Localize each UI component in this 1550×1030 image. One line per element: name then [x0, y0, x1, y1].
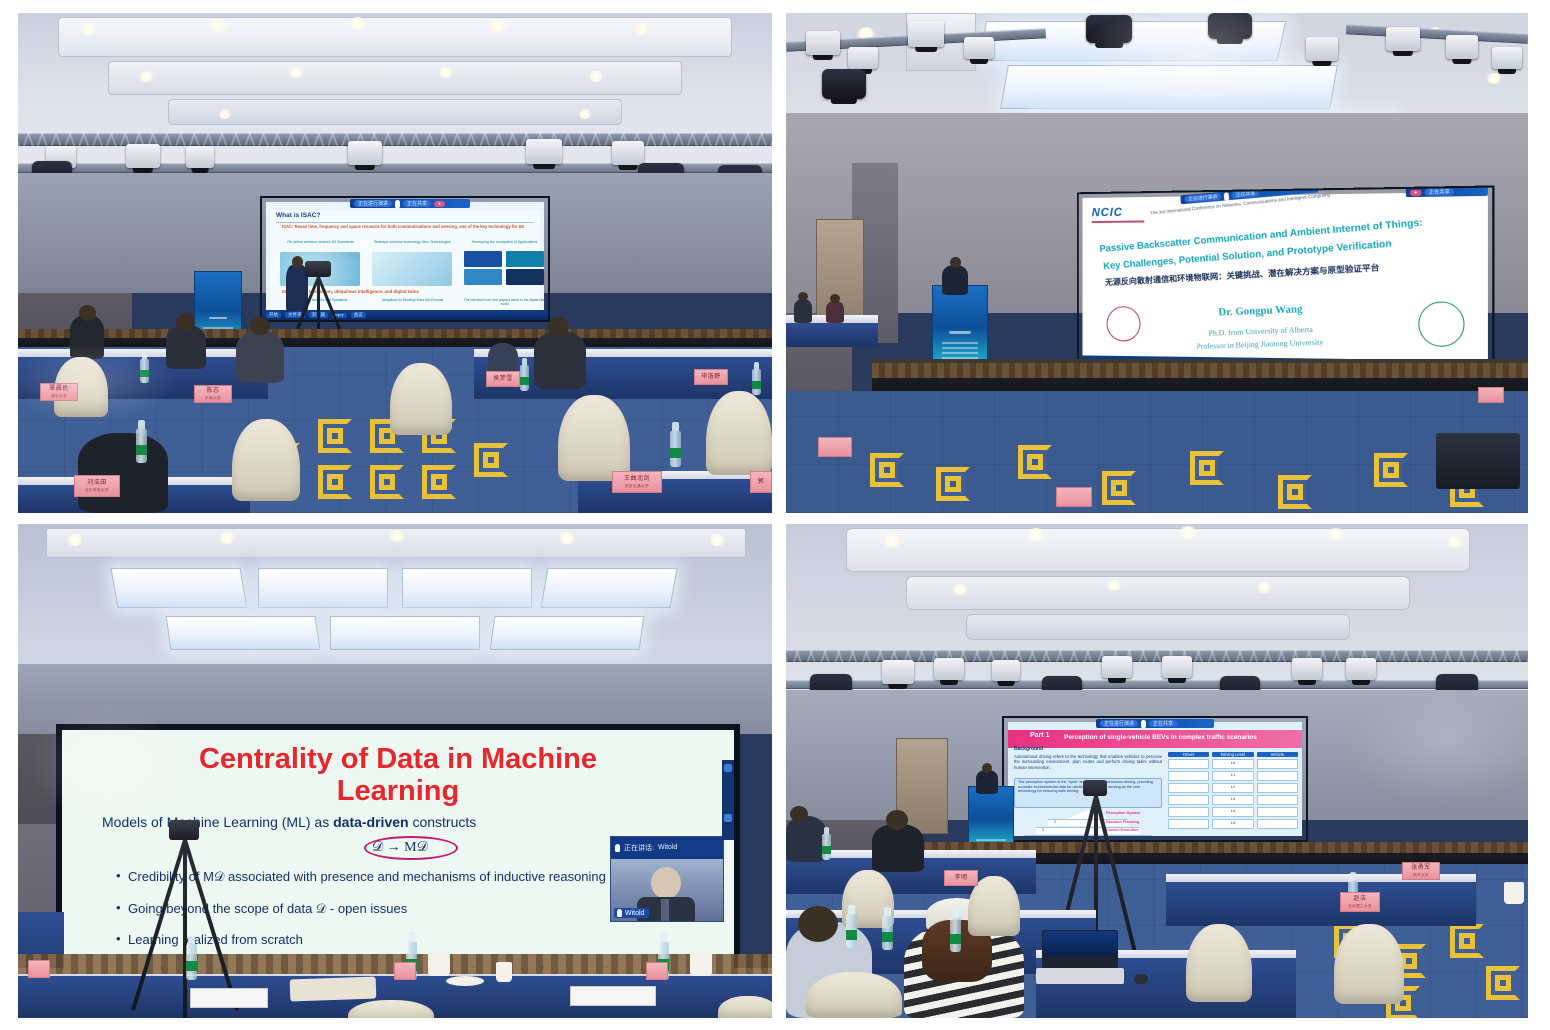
water-bottle: [670, 431, 681, 467]
stage-light: [1162, 656, 1192, 678]
placard-name: 张勇军: [1411, 865, 1431, 872]
audience-head: [548, 317, 569, 336]
presentation-status-strip: 正在进行演讲 正在共享: [1096, 719, 1214, 728]
laptop-screen: [1043, 931, 1117, 956]
slide-section-label: Background: [1014, 746, 1043, 752]
stage: [872, 361, 1528, 393]
camera-icon: [1083, 780, 1107, 796]
stage-light: [1292, 658, 1322, 680]
name-placard: 侯梦雪: [486, 371, 520, 387]
annotation-ellipse: [364, 836, 458, 860]
speaker-name: Dr. Gongpu Wang: [1163, 301, 1361, 321]
name-placard: [394, 962, 416, 980]
chair: [1186, 924, 1252, 1002]
water-bottle: [186, 944, 197, 980]
stage-light: [186, 146, 214, 168]
placard-name: 李明: [954, 875, 967, 882]
chair: [1334, 924, 1404, 1004]
logo-alberta: [1418, 301, 1464, 347]
ceiling-light-panel: [330, 616, 480, 650]
speaking-name: Witold: [658, 844, 677, 851]
placard-affiliation: 东南大学: [205, 396, 221, 400]
podium: [932, 285, 988, 363]
microphone-icon: [1224, 192, 1229, 200]
led-screen: Part 1 Perception of single-vehicle BEVs…: [1002, 716, 1308, 842]
chair: [806, 972, 902, 1018]
audience-head: [886, 810, 908, 830]
audience-head: [79, 305, 96, 321]
name-placard: 陈志 东南大学: [194, 385, 232, 403]
name-placard: 张勇军 同济大学: [1402, 862, 1440, 880]
side-table: [786, 319, 878, 347]
mic-control-icon[interactable]: [724, 764, 732, 772]
placard-name: 陈志: [206, 388, 219, 395]
table-cell-level: L2: [1212, 783, 1253, 793]
camera-tripod: [304, 261, 332, 333]
tea-cup: [1504, 882, 1524, 904]
water-bottle: [752, 369, 761, 395]
slide-title: What is ISAC?: [276, 212, 320, 219]
placard-affiliation: 北京邮电大学: [85, 488, 109, 492]
participant-name-badge: Witold: [614, 908, 649, 918]
status-pill-sharing: 正在共享: [1149, 720, 1177, 727]
floor-placard: [1478, 387, 1504, 403]
stage-light: [992, 660, 1020, 681]
name-placard: [28, 960, 50, 978]
stage-light: [1306, 37, 1338, 61]
audience-member: [236, 331, 284, 383]
water-bottle: [882, 916, 893, 950]
stage-light: [1386, 27, 1420, 51]
name-placard: 赵洁 北京理工大学: [1340, 892, 1380, 912]
stage-light: [1208, 13, 1252, 39]
placard-affiliation: 西安交通大学: [625, 484, 649, 488]
stage-light: [1346, 658, 1376, 680]
photo-top-right: NCIC The 3rd International Conference on…: [786, 13, 1528, 513]
photo-bottom-right: Part 1 Perception of single-vehicle BEVs…: [786, 524, 1528, 1018]
status-pill-sharing-right: 正在共享: [1425, 188, 1454, 196]
ceiling-light-panel: [490, 616, 645, 650]
podium-logo: [949, 331, 971, 334]
audience-member: [70, 315, 104, 359]
table-row: L0: [1168, 759, 1298, 769]
subtitle-suffix: constructs: [409, 814, 477, 830]
stage-light: [126, 144, 160, 168]
presentation-status-strip-right: ● 正在共享: [1406, 187, 1488, 198]
presentation-status-strip: 正在进行演讲 正在共享 ●: [350, 199, 470, 208]
ceiling-light-panel: [402, 568, 532, 608]
status-pill-sharing: 正在共享: [403, 200, 431, 207]
slide-col-heading: The interface from real physics world to…: [462, 298, 544, 307]
carpet: [786, 391, 1528, 513]
laptop-keyboard[interactable]: [1036, 968, 1124, 984]
podium: [968, 786, 1014, 846]
table-row: L1: [1168, 771, 1298, 781]
photo-top-left: What is ISAC? ISAC: Reuse time, frequenc…: [18, 13, 772, 513]
placard-name: 覃晨民: [49, 386, 69, 393]
camera-control-icon[interactable]: [724, 814, 732, 822]
audience-head: [798, 292, 808, 301]
table-row: L2: [1168, 783, 1298, 793]
ceiling-light-panel: [166, 616, 321, 650]
status-pill-record: ●: [1410, 189, 1421, 195]
chair: [718, 996, 772, 1018]
table-cell-level: L4: [1212, 807, 1253, 817]
placard-name: 郭: [758, 479, 765, 486]
stage-light: [1102, 656, 1132, 678]
table-header: Vehicle: [1257, 752, 1298, 757]
speaker: [976, 770, 998, 794]
pyramid-number: 3: [1042, 828, 1044, 832]
tea-cup: [690, 952, 712, 976]
slide-bullet-1: ISAC: Reuse time, frequency and space re…: [282, 224, 532, 230]
microphone-icon: [615, 844, 620, 852]
placard-name: 王曲北剑: [624, 476, 650, 483]
slide-paragraph: Autonomous driving refers to the technol…: [1014, 754, 1162, 770]
audience-member: [794, 299, 812, 323]
water-bottle: [950, 918, 961, 952]
audience-head: [250, 317, 270, 335]
table-cell-level: L3: [1212, 795, 1253, 805]
slide-col-heading: Reshaping the ecosystem AI Applications: [462, 240, 544, 245]
audience-head: [798, 906, 838, 942]
remote-speaker-head: [651, 867, 681, 899]
slide-title: Perception of single-vehicle BEVs in com…: [1064, 734, 1296, 741]
photo-bottom-left: Centrality of Data in Machine Learning M…: [18, 524, 772, 1018]
audience-member: [826, 301, 844, 323]
camera-icon: [169, 820, 199, 840]
napkin: [290, 977, 377, 1002]
stage-light: [882, 660, 914, 684]
placard-name: 申洛野: [701, 374, 721, 381]
laptop[interactable]: [1042, 930, 1118, 970]
audience-member: [872, 824, 924, 872]
chair: [390, 363, 452, 435]
stage-light: [1446, 35, 1478, 59]
subtitle-bold: data-driven: [333, 814, 408, 830]
status-pill-record: ●: [434, 201, 445, 207]
audience-member: [534, 331, 586, 389]
video-tile-header: 正在讲话: Witold: [611, 837, 723, 859]
screen-control-rail[interactable]: [722, 760, 734, 840]
placard-name: 赵洁: [1353, 896, 1366, 903]
name-placard: 李明: [944, 870, 978, 886]
notebook: [190, 988, 268, 1008]
equipment-stand: [1436, 433, 1520, 489]
stage: [18, 329, 772, 347]
stage-light: [822, 69, 866, 99]
computer-mouse[interactable]: [1134, 974, 1148, 984]
camera-icon: [305, 261, 331, 277]
chair: [706, 391, 772, 475]
status-pill-sharing: 正在共享: [1232, 190, 1260, 199]
photo-collage: What is ISAC? ISAC: Reuse time, frequenc…: [0, 0, 1550, 1030]
slide-col-heading: Re-define wireless network 6G Standards: [278, 240, 363, 245]
table-cell-level: L0: [1212, 759, 1253, 769]
name-placard: 刘浩田 北京邮电大学: [74, 475, 120, 497]
placard-name: 侯梦雪: [493, 376, 513, 383]
speaking-label: 正在讲话:: [624, 843, 654, 853]
water-bottle: [136, 429, 147, 463]
status-pill-presenting: 正在进行演讲: [354, 200, 392, 207]
audience-member: [166, 325, 206, 369]
taskbar-item[interactable]: 开始: [266, 312, 281, 318]
slide-col-heading: Ubiquitous AI Sensing+Data+All-Process: [370, 298, 455, 302]
stage-light: [1492, 47, 1522, 69]
logo-bjtu: [1107, 306, 1141, 341]
speaker-head: [982, 763, 992, 773]
name-placard: 王曲北剑 西安交通大学: [612, 471, 662, 493]
speaker-head: [950, 257, 961, 268]
stage-light: [806, 31, 840, 55]
stage-light: [908, 21, 944, 47]
chair: [232, 419, 300, 501]
pyramid-number: 2: [1054, 820, 1056, 824]
stage-light: [526, 139, 562, 164]
stage-light: [348, 141, 382, 165]
stage-light: [612, 141, 644, 165]
water-bottle: [822, 834, 831, 860]
table-cell-level: L5: [1212, 819, 1253, 829]
water-bottle: [140, 359, 149, 383]
ncic-logo: NCIC: [1092, 205, 1123, 219]
placard-affiliation: 清华大学: [51, 394, 67, 398]
water-bottle: [846, 914, 857, 948]
microphone-icon: [395, 200, 400, 208]
ceiling-light-panel: [1000, 65, 1338, 109]
audience-head: [176, 313, 195, 331]
name-placard: 申洛野: [694, 369, 728, 385]
placard-affiliation: 北京理工大学: [1348, 904, 1372, 908]
stage-light: [1086, 15, 1132, 43]
taskbar-item[interactable]: 会议: [351, 312, 366, 318]
audience-member: [78, 433, 168, 513]
table-cell-level: L1: [1212, 771, 1253, 781]
stage-light: [934, 658, 964, 680]
stage-light: [964, 37, 994, 59]
audience-table: [1166, 878, 1476, 926]
ceiling-light-panel: [540, 568, 677, 608]
audience-head: [830, 294, 840, 303]
placard-affiliation: 同济大学: [1413, 873, 1429, 877]
table-row: L4: [1168, 807, 1298, 817]
name-placard: 覃晨民 清华大学: [40, 383, 78, 401]
placard-name: 刘浩田: [87, 480, 107, 487]
table-row: L5: [1168, 819, 1298, 829]
ceiling-light-panel: [110, 568, 247, 608]
table-row: L3: [1168, 795, 1298, 805]
microphone-icon: [1141, 720, 1146, 728]
driving-level-table: Driver Driving Level Vehicle L0 L1: [1168, 752, 1298, 832]
table-header: Driving Level: [1212, 752, 1253, 757]
stage-light: [848, 47, 878, 69]
tea-cup: [428, 952, 450, 976]
ceiling-light-panel: [258, 568, 388, 608]
podium-logo: [209, 317, 227, 319]
slide-part-label: Part 1: [1030, 732, 1049, 739]
chair: [558, 395, 630, 481]
led-screen: NCIC The 3rd International Conference on…: [1077, 185, 1494, 380]
table-header: Driver: [1168, 752, 1209, 757]
name-placard: 郭: [750, 471, 772, 493]
name-placard: [646, 962, 668, 980]
remote-speaker-video-tile[interactable]: 正在讲话: Witold Witold: [610, 836, 724, 922]
audience-head: [790, 806, 808, 822]
water-bottle: [520, 365, 529, 391]
paper-cup: [496, 962, 512, 982]
microphone-icon: [617, 909, 622, 917]
slide-title-line-1: Centrality of Data in Machine: [112, 744, 684, 774]
floor-placard: [818, 437, 852, 457]
slide-title-line-2: Learning: [112, 776, 684, 806]
speaker-head: [292, 256, 303, 268]
notebook: [570, 986, 656, 1006]
dessert-plate: [446, 976, 484, 986]
speaker: [942, 265, 968, 295]
slide-col-heading: Reshape wireless technology New Technolo…: [370, 240, 455, 245]
status-pill-presenting: 正在进行演讲: [1100, 720, 1138, 727]
audience-member: [786, 816, 826, 862]
floor-placard: [1056, 487, 1092, 507]
